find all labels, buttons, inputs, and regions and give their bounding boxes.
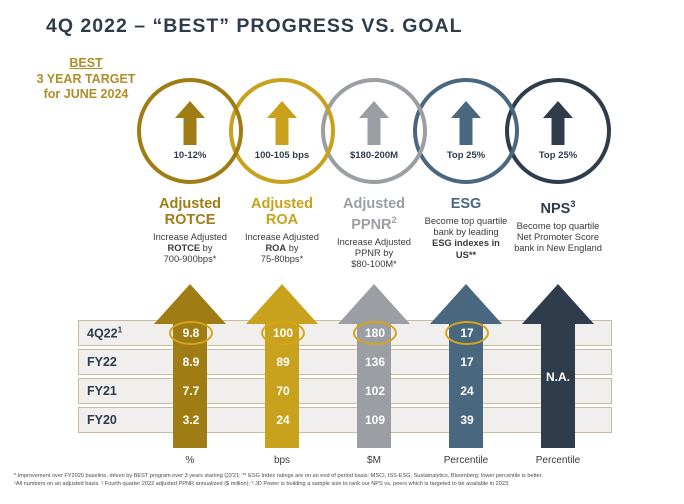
unit-label-rotce: %	[186, 455, 195, 466]
up-arrow-icon	[359, 101, 389, 145]
table-cell-value: 102	[365, 384, 385, 398]
metric-column-nps: NPS3Become top quartileNet Promoter Scor…	[498, 196, 618, 254]
table-cell-value: 24	[276, 413, 289, 427]
table-cell-value: 39	[460, 413, 473, 427]
target-ring-ppnr: $180-200M	[321, 78, 427, 184]
table-cell-value: 89	[276, 355, 289, 369]
up-arrow-icon	[267, 101, 297, 145]
table-cell-value: 70	[276, 384, 289, 398]
table-cell-value: 100	[273, 326, 293, 340]
metric-title-nps: NPS3	[498, 196, 618, 217]
ring-value-label-esg: Top 25%	[447, 150, 485, 161]
table-cell-value: 109	[365, 413, 385, 427]
table-cell-value: 9.8	[183, 326, 200, 340]
unit-label-esg: Percentile	[444, 455, 488, 466]
unit-label-ppnr: $M	[367, 455, 381, 466]
table-row-label: FY20	[87, 413, 117, 427]
footnotes: * Improvement over FY2020 baseline, driv…	[14, 473, 674, 488]
metric-arrow-nps	[522, 284, 594, 448]
table-cell-value: 3.2	[183, 413, 200, 427]
page-title: 4Q 2022 – “BEST” PROGRESS VS. GOAL	[46, 15, 463, 38]
table-cell-value: 8.9	[183, 355, 200, 369]
ring-value-label-ppnr: $180-200M	[350, 150, 398, 161]
best-label-line2: 3 YEAR TARGET	[22, 72, 150, 88]
table-cell-value: 136	[365, 355, 385, 369]
ring-value-label-roa: 100-105 bps	[255, 150, 309, 161]
table-cell-value: 24	[460, 384, 473, 398]
nps-not-available-label: N.A.	[546, 370, 570, 384]
footnote-line-1: * Improvement over FY2020 baseline, driv…	[14, 473, 674, 481]
target-ring-roa: 100-105 bps	[229, 78, 335, 184]
best-label-line1: BEST	[22, 56, 150, 72]
ring-value-label-nps: Top 25%	[539, 150, 577, 161]
table-row-label: FY22	[87, 355, 117, 369]
slide-canvas: 4Q 2022 – “BEST” PROGRESS VS. GOAL BEST …	[0, 0, 684, 504]
best-three-year-target-label: BEST 3 YEAR TARGET for JUNE 2024	[22, 56, 150, 103]
table-cell-value: 180	[365, 326, 385, 340]
ring-value-label-rotce: 10-12%	[174, 150, 207, 161]
table-row-label: 4Q221	[87, 325, 122, 340]
up-arrow-icon	[451, 101, 481, 145]
best-label-line3: for JUNE 2024	[22, 87, 150, 103]
metric-description-nps: Become top quartileNet Promoter Scoreban…	[498, 221, 618, 255]
table-cell-value: 17	[460, 326, 473, 340]
target-ring-rotce: 10-12%	[137, 78, 243, 184]
up-arrow-icon	[175, 101, 205, 145]
table-row-label: FY21	[87, 384, 117, 398]
table-cell-value: 17	[460, 355, 473, 369]
target-ring-nps: Top 25%	[505, 78, 611, 184]
unit-label-roa: bps	[274, 455, 290, 466]
target-ring-esg: Top 25%	[413, 78, 519, 184]
unit-label-nps: Percentile	[536, 455, 580, 466]
table-cell-value: 7.7	[183, 384, 200, 398]
up-arrow-icon	[543, 101, 573, 145]
footnote-line-2: ¹All numbers on an adjusted basis. ² Fou…	[14, 481, 674, 489]
